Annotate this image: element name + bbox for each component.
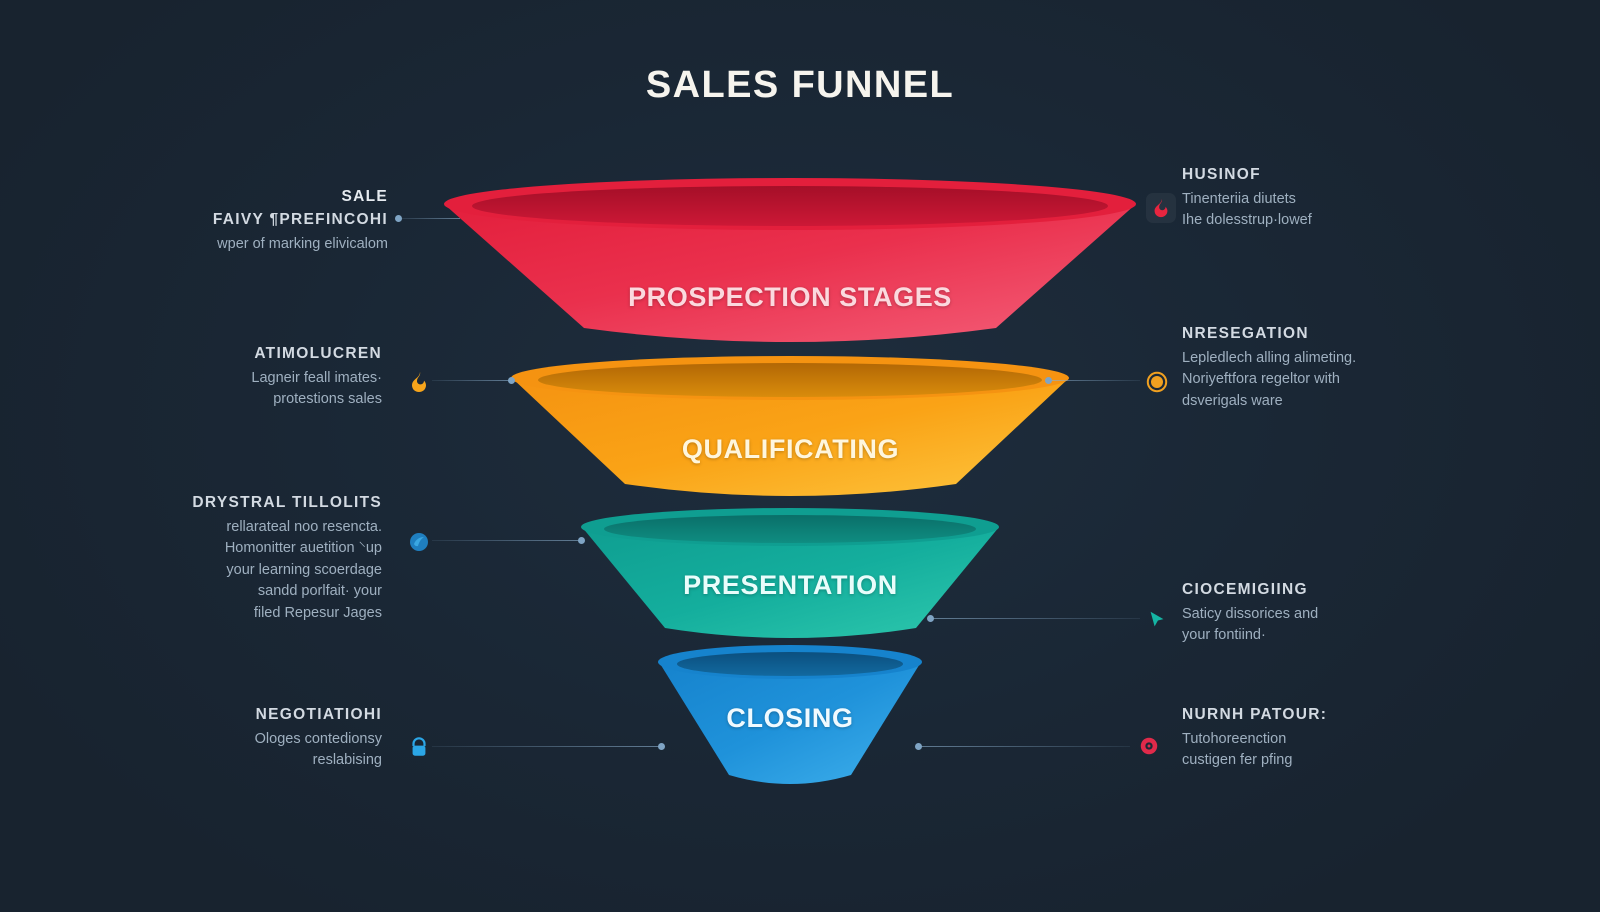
annotation-left-1-heading: FAIVY ¶PREFINCOHI [88, 211, 388, 229]
annotation-right-1-heading: HUSINOF [1182, 166, 1482, 184]
funnel-stage-2-label: QUALIFICATING [508, 434, 1073, 465]
annotation-right-2: NRESEGATION Lepledlech alling alimeting.… [1182, 325, 1482, 412]
annotation-left-3-line-1: rellarateal noo resencta. [82, 517, 382, 538]
annotation-left-3-line-3: your learning scoerdage [82, 560, 382, 581]
annotation-left-1-line-1: wper of marking elivicalom [88, 234, 388, 255]
annotation-right-3-line-2: your fontiind· [1182, 625, 1482, 646]
annotation-right-1-line-2: Ihe dolesstrup·lowef [1182, 210, 1482, 231]
annotation-right-4-heading: NURNH PATOUR: [1182, 706, 1482, 724]
connector-right-2 [1048, 380, 1140, 381]
funnel-stage-1-label: PROSPECTION STAGES [440, 282, 1140, 313]
annotation-right-2-line-2: Noriyeftfora regeltor with [1182, 369, 1482, 390]
annotation-left-3-line-5: filed Repesur Jages [82, 603, 382, 624]
annotation-left-4: NEGOTIATIOHI Ologes contedionsy reslabis… [82, 706, 382, 772]
funnel-stage-3-label: PRESENTATION [578, 570, 1003, 601]
connector-right-3 [930, 618, 1140, 619]
connector-dot-left-4 [658, 743, 665, 750]
connector-right-4 [918, 746, 1130, 747]
annotation-right-2-line-3: dsverigals ware [1182, 391, 1482, 412]
annotation-left-3-line-4: sandd porlfait· your [82, 581, 382, 602]
funnel-stage-4-label: CLOSING [655, 703, 925, 734]
annotation-right-1-line-1: Tinenteriia diutets [1182, 189, 1482, 210]
coin-icon [1142, 367, 1172, 397]
infographic-canvas: SALES FUNNEL [0, 0, 1600, 912]
connector-dot-right-3 [927, 615, 934, 622]
annotation-left-2: ATIMOLUCREN Lagneir feall imates· protes… [82, 345, 382, 411]
funnel-stage-1-shape [440, 178, 1140, 354]
connector-dot-right-4 [915, 743, 922, 750]
connector-left-3 [432, 540, 582, 541]
connector-dot-right-2 [1045, 377, 1052, 384]
annotation-left-3: DRYSTRAL TILLOLITS rellarateal noo resen… [82, 494, 382, 624]
annotation-left-2-heading: ATIMOLUCREN [82, 345, 382, 363]
annotation-right-3-heading: CIOCEMIGIING [1182, 581, 1482, 599]
flame-red-icon [1146, 193, 1176, 223]
connector-left-1 [398, 218, 460, 219]
annotation-left-3-line-2: Homonitter auetition ⸌up [82, 538, 382, 559]
annotation-left-4-line-2: reslabising [82, 750, 382, 771]
funnel-stage-2-shape [508, 356, 1073, 508]
funnel-diagram: PROSPECTION STAGES [0, 0, 1600, 912]
annotation-right-4-line-1: Tutohoreenction [1182, 729, 1482, 750]
annotation-right-1: HUSINOF Tinenteriia diutets Ihe dolesstr… [1182, 166, 1482, 232]
annotation-right-3: CIOCEMIGIING Saticy dissorices and your … [1182, 581, 1482, 647]
funnel-stage-3[interactable]: PRESENTATION [578, 508, 1003, 648]
annotation-left-4-line-1: Ologes contedionsy [82, 729, 382, 750]
circle-icon [404, 527, 434, 557]
annotation-left-1: SALE FAIVY ¶PREFINCOHI wper of marking e… [88, 188, 388, 255]
annotation-left-1-subheading: SALE [88, 188, 388, 206]
connector-dot-left-2 [508, 377, 515, 384]
funnel-stage-2[interactable]: QUALIFICATING [508, 356, 1073, 508]
flame-icon [404, 367, 434, 397]
annotation-left-2-line-2: protestions sales [82, 389, 382, 410]
connector-dot-left-3 [578, 537, 585, 544]
arrow-icon [1142, 605, 1172, 635]
annotation-right-2-heading: NRESEGATION [1182, 325, 1482, 343]
annotation-right-2-line-1: Lepledlech alling alimeting. [1182, 348, 1482, 369]
annotation-left-4-heading: NEGOTIATIOHI [82, 706, 382, 724]
annotation-left-3-heading: DRYSTRAL TILLOLITS [82, 494, 382, 512]
funnel-stage-1[interactable]: PROSPECTION STAGES [440, 178, 1140, 354]
funnel-stage-4[interactable]: CLOSING [655, 645, 925, 793]
annotation-left-2-line-1: Lagneir feall imates· [82, 368, 382, 389]
connector-left-4 [432, 746, 662, 747]
lock-icon [404, 732, 434, 762]
annotation-right-4-line-2: custigen fer pfing [1182, 750, 1482, 771]
connector-dot-left-1 [395, 215, 402, 222]
annotation-right-3-line-1: Saticy dissorices and [1182, 604, 1482, 625]
target-icon [1134, 731, 1164, 761]
annotation-right-4: NURNH PATOUR: Tutohoreenction custigen f… [1182, 706, 1482, 772]
connector-left-2 [432, 380, 512, 381]
